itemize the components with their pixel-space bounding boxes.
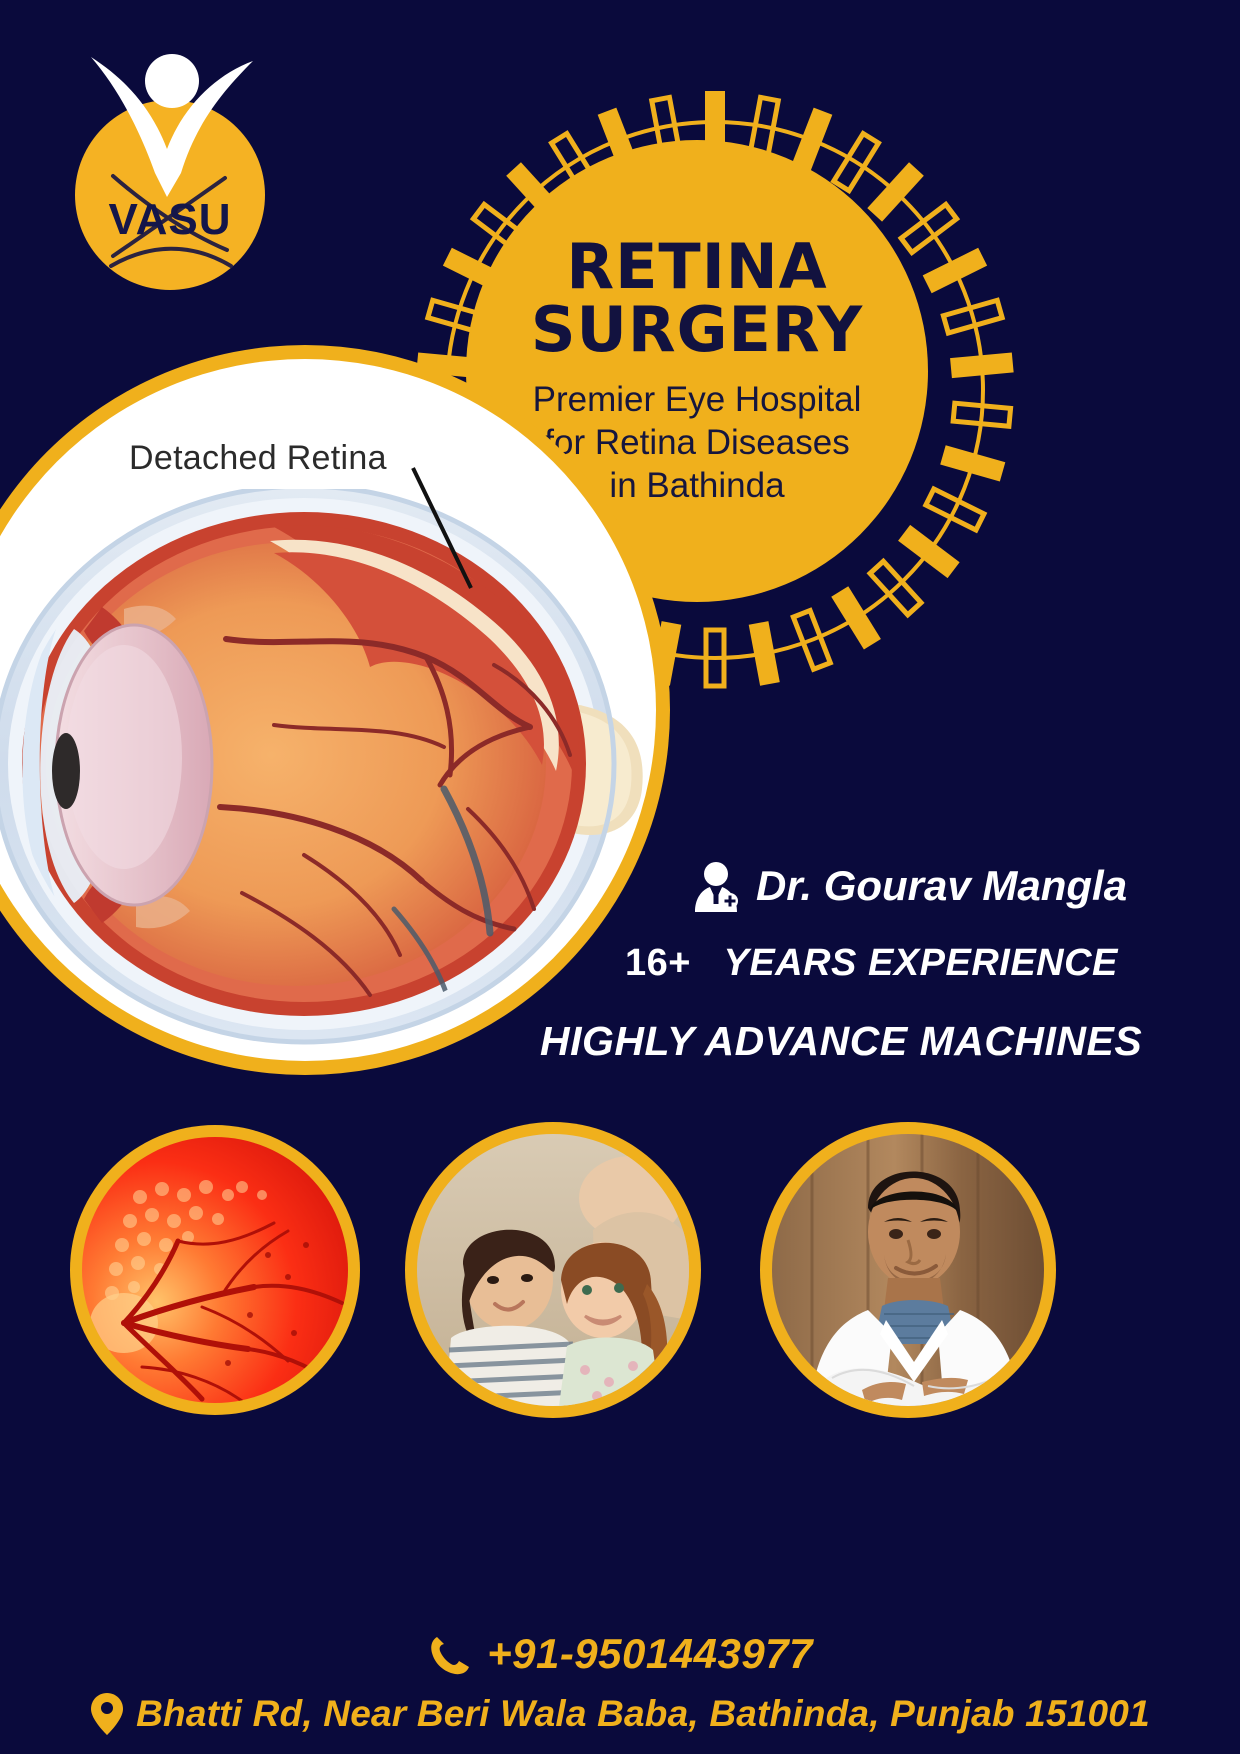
doctor-portrait-photo [760,1122,1056,1418]
ring-tick [898,525,960,578]
doctor-name: Dr. Gourav Mangla [756,862,1127,910]
doctor-image [772,1134,1044,1406]
contact-phone-row[interactable]: +91-9501443977 [0,1630,1240,1678]
contact-address-row[interactable]: Bhatti Rd, Near Beri Wala Baba, Bathinda… [0,1692,1240,1736]
retina-fundus-photo [70,1125,360,1415]
leader-line-pointer [409,464,489,594]
experience-label: YEARS EXPERIENCE [723,942,1117,984]
hero-subtitle-line2: for Retina Diseases [533,422,862,465]
map-pin-icon [90,1692,124,1736]
ring-tick [831,586,881,649]
poster-root: VASU RETINA SURGERY Premier Eye Hospital… [0,0,1240,1754]
address[interactable]: Bhatti Rd, Near Beri Wala Baba, Bathinda… [136,1693,1150,1735]
logo-wordmark: VASU [75,195,265,245]
experience-number: 16+ [625,942,691,984]
hero-subtitle-line1: Premier Eye Hospital [533,379,862,422]
experience-tagline: 16+ YEARS EXPERIENCE [625,942,1118,985]
hero-title-line1: RETINA [531,235,863,298]
phone-number[interactable]: +91-9501443977 [487,1630,813,1678]
eye-cross-section-anatomy-illustration [0,489,654,1049]
doctor-name-row: Dr. Gourav Mangla [690,860,1127,912]
detached-retina-label: Detached Retina [129,439,387,478]
happy-children-patients-photo [405,1122,701,1418]
ring-tick [950,352,1014,378]
children-image [417,1134,689,1406]
ring-tick [923,248,987,294]
ring-tick [940,445,1005,481]
phone-icon [427,1632,471,1676]
vasu-logo[interactable]: VASU [75,45,265,290]
machines-tagline: HIGHLY ADVANCE MACHINES [540,1018,1142,1065]
hero-title-line2: SURGERY [531,298,863,361]
doctor-avatar-icon [690,860,742,912]
fundus-image [82,1137,348,1403]
